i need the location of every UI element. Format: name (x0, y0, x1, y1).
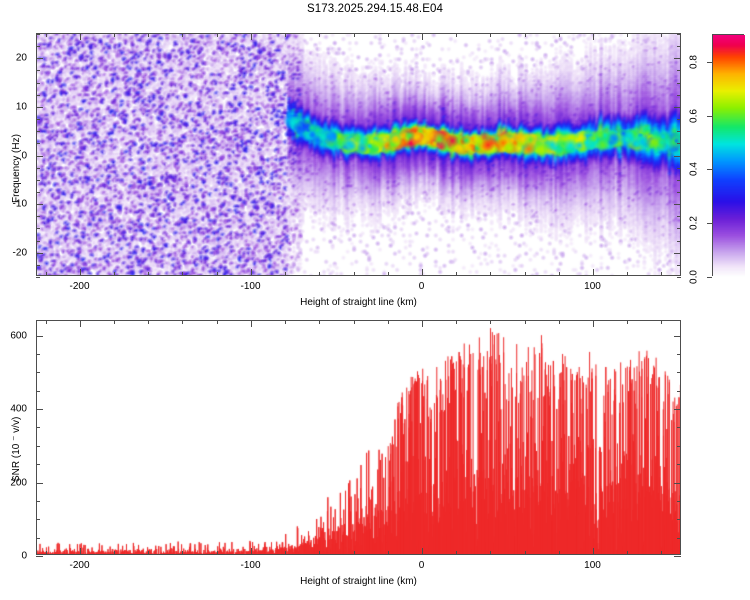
x-minor-tick (319, 551, 320, 555)
figure-title: S173.2025.294.15.48.E04 (0, 3, 750, 15)
y-minor-tick (36, 464, 40, 465)
y-minor-tick-right (677, 119, 681, 120)
spectrogram-y-axis-title: Frequency (Hz) (11, 134, 22, 203)
y-minor-tick-right (677, 180, 681, 181)
y-major-tick (36, 58, 43, 59)
colorbar-tick-label: 0.6 (689, 106, 700, 126)
y-minor-tick (36, 143, 40, 144)
x-minor-tick-top (114, 33, 115, 37)
y-major-tick (36, 336, 43, 337)
y-major-tick-right (674, 483, 681, 484)
x-minor-tick (627, 272, 628, 276)
x-minor-tick (217, 272, 218, 276)
x-minor-tick (661, 272, 662, 276)
x-tick-label: 100 (584, 281, 601, 292)
y-minor-tick (36, 265, 40, 266)
x-minor-tick (456, 551, 457, 555)
x-major-tick (422, 269, 423, 276)
x-minor-tick (388, 551, 389, 555)
y-minor-tick-right (677, 34, 681, 35)
y-minor-tick (36, 372, 40, 373)
y-minor-tick-right (677, 228, 681, 229)
y-minor-tick (36, 519, 40, 520)
x-minor-tick-top (559, 33, 560, 37)
x-minor-tick (490, 272, 491, 276)
x-minor-tick (46, 272, 47, 276)
x-minor-tick (148, 551, 149, 555)
y-minor-tick (36, 241, 40, 242)
y-major-tick-right (674, 204, 681, 205)
y-minor-tick (36, 83, 40, 84)
y-minor-tick (36, 427, 40, 428)
x-minor-tick (525, 551, 526, 555)
x-minor-tick-top (46, 33, 47, 37)
y-minor-tick-right (677, 46, 681, 47)
x-minor-tick-top (627, 320, 628, 324)
x-major-tick (593, 269, 594, 276)
x-minor-tick-top (319, 33, 320, 37)
y-major-tick-right (674, 58, 681, 59)
x-minor-tick-top (217, 33, 218, 37)
x-minor-tick-top (148, 320, 149, 324)
y-tick-label: 10 (0, 101, 27, 112)
y-minor-tick (36, 391, 40, 392)
x-minor-tick (490, 551, 491, 555)
x-minor-tick-top (661, 320, 662, 324)
snr-y-axis-title: SNR (10 ⁻ v/v) (11, 416, 22, 481)
y-major-tick (36, 556, 43, 557)
x-major-tick (251, 548, 252, 555)
x-tick-label: 0 (419, 281, 425, 292)
x-minor-tick (114, 272, 115, 276)
x-tick-label: 100 (584, 560, 601, 571)
x-minor-tick (559, 551, 560, 555)
y-major-tick-right (674, 107, 681, 108)
y-minor-tick (36, 446, 40, 447)
y-minor-tick (36, 34, 40, 35)
y-minor-tick-right (677, 446, 681, 447)
x-major-tick-top (593, 320, 594, 327)
y-tick-label: -20 (0, 247, 27, 258)
y-minor-tick-right (677, 519, 681, 520)
x-minor-tick (217, 551, 218, 555)
x-minor-tick-top (456, 33, 457, 37)
x-minor-tick-top (661, 33, 662, 37)
y-tick-label: 600 (0, 330, 27, 341)
x-minor-tick (148, 272, 149, 276)
y-minor-tick (36, 216, 40, 217)
y-minor-tick-right (677, 501, 681, 502)
y-minor-tick-right (677, 277, 681, 278)
y-minor-tick-right (677, 143, 681, 144)
y-minor-tick (36, 501, 40, 502)
y-tick-label: 400 (0, 403, 27, 414)
y-major-tick (36, 253, 43, 254)
x-minor-tick-top (559, 320, 560, 324)
x-tick-label: -200 (69, 560, 89, 571)
x-minor-tick-top (490, 320, 491, 324)
y-minor-tick (36, 354, 40, 355)
y-minor-tick (36, 131, 40, 132)
x-major-tick (422, 548, 423, 555)
y-major-tick-right (674, 409, 681, 410)
x-tick-label: 0 (419, 560, 425, 571)
x-major-tick (80, 548, 81, 555)
y-minor-tick (36, 168, 40, 169)
x-tick-label: -200 (69, 281, 89, 292)
y-minor-tick-right (677, 464, 681, 465)
y-minor-tick-right (677, 131, 681, 132)
x-minor-tick-top (46, 320, 47, 324)
x-minor-tick-top (217, 320, 218, 324)
x-minor-tick (388, 272, 389, 276)
y-minor-tick-right (677, 83, 681, 84)
x-minor-tick (661, 551, 662, 555)
x-minor-tick (182, 272, 183, 276)
y-minor-tick (36, 228, 40, 229)
y-minor-tick (36, 119, 40, 120)
y-tick-label: 0 (0, 550, 27, 561)
y-minor-tick-right (677, 372, 681, 373)
x-minor-tick (559, 272, 560, 276)
x-tick-label: -100 (240, 281, 260, 292)
x-minor-tick-top (285, 320, 286, 324)
x-minor-tick (456, 272, 457, 276)
x-minor-tick-top (354, 320, 355, 324)
y-minor-tick-right (677, 95, 681, 96)
y-minor-tick-right (677, 216, 681, 217)
x-minor-tick-top (319, 320, 320, 324)
y-minor-tick-right (677, 265, 681, 266)
y-minor-tick-right (677, 427, 681, 428)
x-minor-tick (182, 551, 183, 555)
spectrogram-x-axis-title: Height of straight line (km) (300, 297, 417, 308)
y-minor-tick (36, 192, 40, 193)
colorbar-tick-label: 0.8 (689, 52, 700, 72)
colorbar-tick-label: 0.0 (689, 267, 700, 287)
x-major-tick (251, 269, 252, 276)
y-minor-tick-right (677, 538, 681, 539)
snr-plot-area[interactable] (36, 320, 681, 555)
x-minor-tick (525, 272, 526, 276)
x-minor-tick-top (525, 320, 526, 324)
x-minor-tick (354, 272, 355, 276)
x-tick-label: -100 (240, 560, 260, 571)
x-major-tick-top (251, 320, 252, 327)
y-major-tick (36, 409, 43, 410)
colorbar-tick (707, 223, 712, 224)
y-major-tick-right (674, 336, 681, 337)
y-major-tick (36, 204, 43, 205)
y-minor-tick-right (677, 192, 681, 193)
x-major-tick-top (251, 33, 252, 40)
y-major-tick (36, 107, 43, 108)
y-minor-tick-right (677, 70, 681, 71)
x-minor-tick-top (182, 33, 183, 37)
x-minor-tick (627, 551, 628, 555)
x-minor-tick-top (354, 33, 355, 37)
x-minor-tick-top (525, 33, 526, 37)
x-minor-tick-top (114, 320, 115, 324)
y-minor-tick (36, 538, 40, 539)
colorbar-tick (707, 62, 712, 63)
x-major-tick-top (422, 320, 423, 327)
y-minor-tick (36, 95, 40, 96)
y-major-tick-right (674, 156, 681, 157)
x-minor-tick-top (388, 320, 389, 324)
snr-x-axis-title: Height of straight line (km) (300, 576, 417, 587)
x-minor-tick (46, 551, 47, 555)
y-minor-tick (36, 277, 40, 278)
y-major-tick (36, 156, 43, 157)
y-minor-tick-right (677, 168, 681, 169)
x-minor-tick-top (148, 33, 149, 37)
colorbar-tick (707, 116, 712, 117)
x-major-tick (593, 548, 594, 555)
x-minor-tick (285, 551, 286, 555)
x-minor-tick-top (182, 320, 183, 324)
figure-root: S173.2025.294.15.48.E04 -200-1000100-20-… (0, 0, 750, 600)
y-major-tick-right (674, 253, 681, 254)
y-minor-tick (36, 70, 40, 71)
y-major-tick-right (674, 556, 681, 557)
y-major-tick (36, 483, 43, 484)
x-minor-tick-top (285, 33, 286, 37)
x-minor-tick (114, 551, 115, 555)
colorbar-tick (707, 277, 712, 278)
y-minor-tick (36, 180, 40, 181)
x-minor-tick-top (456, 320, 457, 324)
x-minor-tick (354, 551, 355, 555)
y-minor-tick-right (677, 354, 681, 355)
x-major-tick-top (80, 33, 81, 40)
y-tick-label: 20 (0, 52, 27, 63)
y-minor-tick-right (677, 241, 681, 242)
colorbar-gradient[interactable] (712, 34, 744, 276)
y-minor-tick (36, 46, 40, 47)
x-major-tick (80, 269, 81, 276)
colorbar-tick-label: 0.4 (689, 159, 700, 179)
x-minor-tick (285, 272, 286, 276)
colorbar-tick-label: 0.2 (689, 213, 700, 233)
x-major-tick-top (593, 33, 594, 40)
y-minor-tick-right (677, 391, 681, 392)
colorbar-tick (707, 169, 712, 170)
x-minor-tick-top (490, 33, 491, 37)
x-major-tick-top (422, 33, 423, 40)
x-minor-tick-top (388, 33, 389, 37)
x-minor-tick-top (627, 33, 628, 37)
spectrogram-plot-area[interactable] (36, 33, 681, 276)
x-major-tick-top (80, 320, 81, 327)
x-minor-tick (319, 272, 320, 276)
